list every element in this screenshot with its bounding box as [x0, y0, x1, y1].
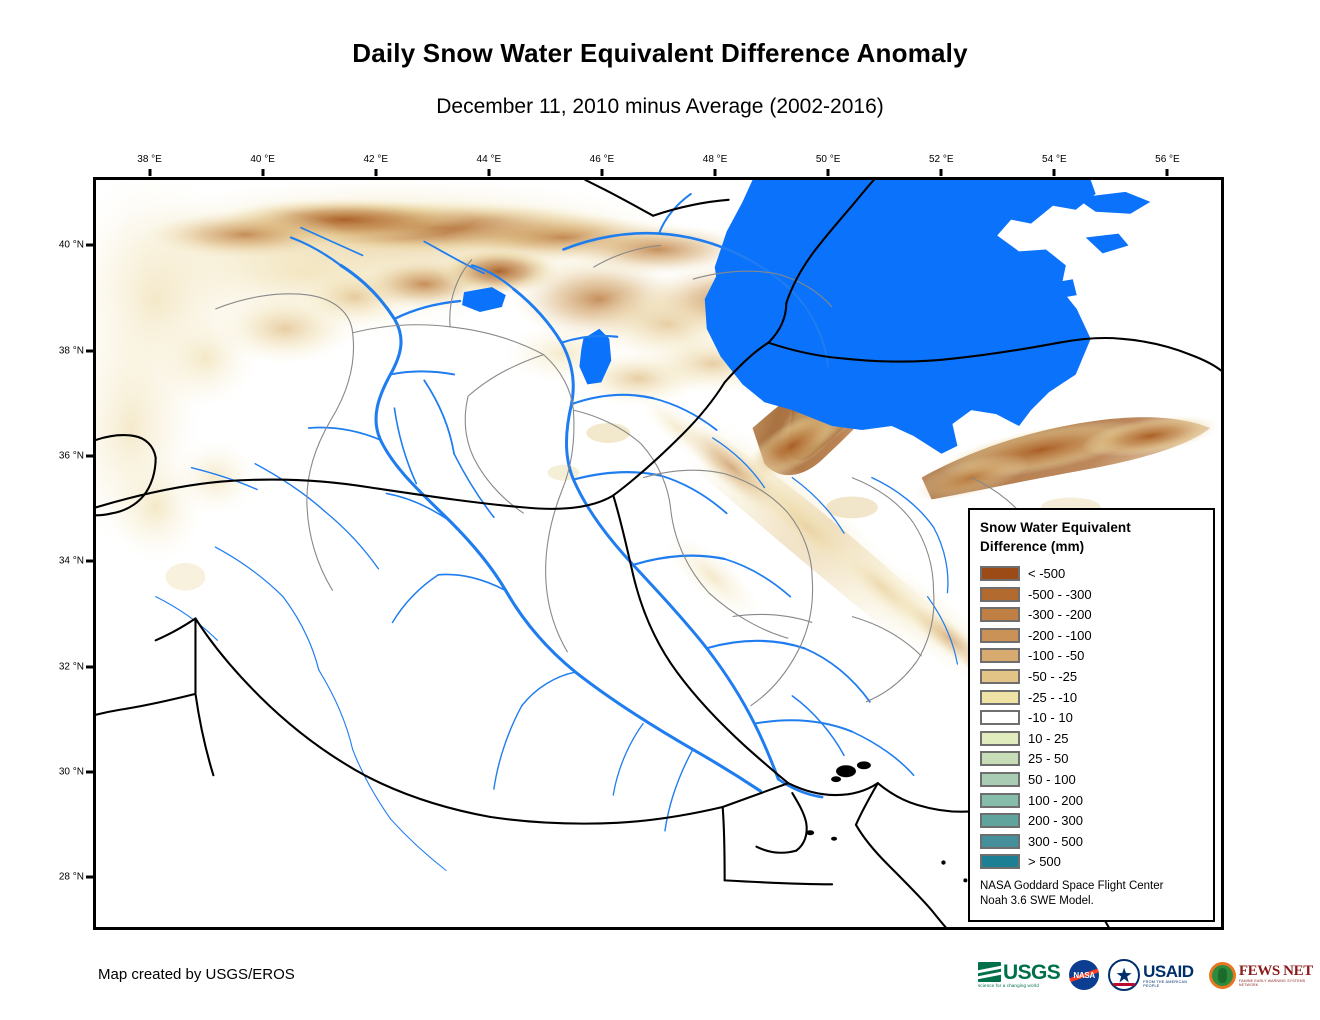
legend-item: -25 - -10: [980, 687, 1203, 708]
legend-item: -100 - -50: [980, 646, 1203, 667]
lon-tick-label: 38 °E: [137, 154, 162, 165]
legend-label: -500 - -300: [1028, 587, 1092, 602]
fews-net-tagline: FAMINE EARLY WARNING SYSTEMS NETWORK: [1239, 979, 1320, 987]
lon-tick-label: 56 °E: [1155, 154, 1180, 165]
legend-label: -50 - -25: [1028, 669, 1077, 684]
lat-tick-label: 36 °N: [40, 451, 84, 462]
legend-item: -500 - -300: [980, 584, 1203, 605]
legend-label: -25 - -10: [1028, 690, 1077, 705]
fews-net-wordmark: FEWS NET: [1239, 964, 1313, 979]
legend-title-line2: Difference (mm): [980, 539, 1084, 554]
legend-label: -300 - -200: [1028, 607, 1092, 622]
legend-label: 50 - 100: [1028, 772, 1076, 787]
legend-note-line1: NASA Goddard Space Flight Center: [980, 879, 1163, 894]
legend-item: -50 - -25: [980, 666, 1203, 687]
usaid-wordmark: USAID: [1143, 963, 1193, 980]
legend-swatch: [980, 813, 1020, 828]
lon-tick-label: 40 °E: [250, 154, 275, 165]
fews-net-logo: FEWS NET FAMINE EARLY WARNING SYSTEMS NE…: [1209, 962, 1320, 989]
lon-tick-mark: [1166, 169, 1169, 176]
map-credit: Map created by USGS/EROS: [98, 966, 295, 983]
legend-label: < -500: [1028, 566, 1065, 581]
legend-swatch: [980, 854, 1020, 869]
legend-label: -100 - -50: [1028, 648, 1084, 663]
legend-label: 200 - 300: [1028, 813, 1083, 828]
lon-tick-label: 46 °E: [590, 154, 615, 165]
lat-tick-label: 30 °N: [40, 767, 84, 778]
legend-item: > 500: [980, 852, 1203, 873]
usgs-wave-icon: [978, 962, 1001, 982]
legend-item: -300 - -200: [980, 604, 1203, 625]
lon-tick-mark: [714, 169, 717, 176]
lat-tick-label: 34 °N: [40, 556, 84, 567]
legend-label: 25 - 50: [1028, 751, 1068, 766]
legend-item: -10 - 10: [980, 707, 1203, 728]
legend-swatch: [980, 751, 1020, 766]
legend-swatch: [980, 690, 1020, 705]
lon-tick-label: 48 °E: [703, 154, 728, 165]
usaid-tagline: FROM THE AMERICAN PEOPLE: [1143, 980, 1200, 988]
lon-tick-mark: [827, 169, 830, 176]
legend-swatch: [980, 710, 1020, 725]
legend-label: 100 - 200: [1028, 793, 1083, 808]
legend-swatch: [980, 607, 1020, 622]
usgs-wordmark: USGS: [1003, 962, 1060, 983]
legend-label: 10 - 25: [1028, 731, 1068, 746]
lon-tick-label: 44 °E: [477, 154, 502, 165]
legend-label: 300 - 500: [1028, 834, 1083, 849]
legend-swatch: [980, 566, 1020, 581]
legend-label: > 500: [1028, 854, 1061, 869]
page-title: Daily Snow Water Equivalent Difference A…: [0, 38, 1320, 69]
usgs-tagline: science for a changing world: [978, 984, 1039, 989]
nasa-wordmark: NASA: [1069, 960, 1099, 990]
lon-tick-mark: [374, 169, 377, 176]
page-subtitle: December 11, 2010 minus Average (2002-20…: [0, 95, 1320, 119]
globe-icon: [1209, 962, 1236, 989]
legend-note-line2: Noah 3.6 SWE Model.: [980, 894, 1163, 909]
lon-tick-mark: [1053, 169, 1056, 176]
lon-tick-label: 42 °E: [363, 154, 388, 165]
legend-swatch: [980, 834, 1020, 849]
legend-items: < -500-500 - -300-300 - -200-200 - -100-…: [980, 563, 1203, 872]
legend-swatch: [980, 648, 1020, 663]
lat-tick-label: 38 °N: [40, 345, 84, 356]
usaid-logo: USAID FROM THE AMERICAN PEOPLE: [1108, 959, 1200, 991]
lat-tick-label: 40 °N: [40, 240, 84, 251]
legend-swatch: [980, 669, 1020, 684]
legend-item: 100 - 200: [980, 790, 1203, 811]
legend-swatch: [980, 772, 1020, 787]
lon-tick-label: 50 °E: [816, 154, 841, 165]
legend-swatch: [980, 731, 1020, 746]
legend-note: NASA Goddard Space Flight Center Noah 3.…: [980, 879, 1163, 909]
lon-tick-mark: [940, 169, 943, 176]
legend-title-line1: Snow Water Equivalent: [980, 520, 1131, 535]
legend-label: -200 - -100: [1028, 628, 1092, 643]
lat-tick-label: 32 °N: [40, 661, 84, 672]
lon-tick-label: 52 °E: [929, 154, 954, 165]
legend-item: 50 - 100: [980, 769, 1203, 790]
lon-tick-mark: [261, 169, 264, 176]
legend-swatch: [980, 587, 1020, 602]
nasa-logo: NASA: [1069, 960, 1099, 990]
legend-title: Snow Water Equivalent Difference (mm): [980, 519, 1203, 556]
lon-tick-mark: [487, 169, 490, 176]
legend-item: < -500: [980, 563, 1203, 584]
map-legend[interactable]: Snow Water Equivalent Difference (mm) < …: [968, 508, 1215, 922]
usaid-seal-icon: [1108, 959, 1140, 991]
legend-item: 200 - 300: [980, 810, 1203, 831]
legend-swatch: [980, 628, 1020, 643]
legend-item: 25 - 50: [980, 749, 1203, 770]
legend-item: 10 - 25: [980, 728, 1203, 749]
lon-tick-label: 54 °E: [1042, 154, 1067, 165]
lon-tick-mark: [600, 169, 603, 176]
legend-swatch: [980, 793, 1020, 808]
legend-label: -10 - 10: [1028, 710, 1073, 725]
agency-logos: USGS science for a changing world NASA U…: [978, 953, 1320, 997]
legend-item: 300 - 500: [980, 831, 1203, 852]
legend-item: -200 - -100: [980, 625, 1203, 646]
usgs-logo: USGS science for a changing world: [978, 962, 1060, 989]
lat-tick-label: 28 °N: [40, 872, 84, 883]
lon-tick-mark: [148, 169, 151, 176]
